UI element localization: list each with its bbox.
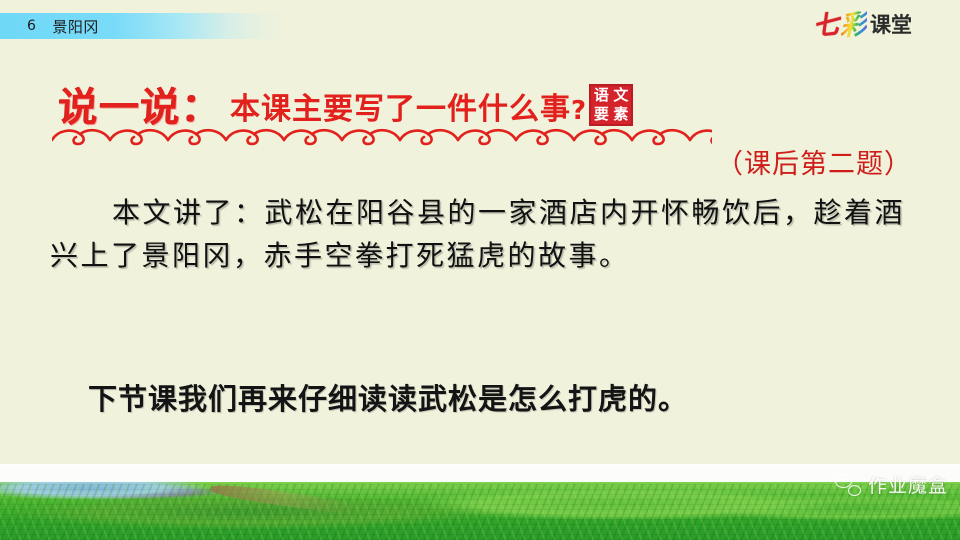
closing-statement: 下节课我们再来仔细读读武松是怎么打虎的。 (88, 382, 688, 417)
yuwen-yaosu-seal: 语 文 要 素 (589, 84, 633, 126)
brand-logo: 七 彩 课堂 (813, 12, 912, 39)
seal-char-4: 素 (612, 106, 631, 124)
summary-paragraph: 本文讲了：武松在阳谷县的一家酒店内开怀畅饮后，趁着酒兴上了景阳冈，赤手空拳打死猛… (50, 192, 910, 277)
watermark-label: 作业魔盒 (868, 471, 948, 498)
landscape-photo-strip (0, 464, 960, 540)
seal-char-2: 文 (612, 87, 631, 105)
wave-underline-decoration (52, 124, 712, 146)
page-title: 景阳冈 (52, 16, 99, 37)
lesson-number: 6 (27, 18, 36, 34)
reference-note: （课后第二题） (716, 150, 912, 180)
heading-prompt: 说一说： (57, 88, 223, 128)
breadcrumb: 6 景阳冈 (0, 13, 285, 39)
heading-question-mark: ? (571, 98, 586, 124)
wechat-icon (835, 474, 861, 496)
seal-char-3: 要 (592, 106, 611, 124)
seal-char-1: 语 (592, 87, 611, 105)
logo-text-ketang: 课堂 (870, 15, 912, 36)
slide-root: 6 景阳冈 七 彩 课堂 说一说： 本课主要写了一件什么事 ? 语 文 要 素 (0, 0, 960, 540)
heading-question: 本课主要写了一件什么事 (230, 95, 571, 125)
logo-char-cai: 彩 (840, 11, 867, 41)
photo-foliage-texture (0, 484, 960, 540)
logo-char-qi: 七 (812, 11, 841, 40)
watermark: 作业魔盒 (835, 471, 948, 498)
heading-row: 说一说： 本课主要写了一件什么事 ? 语 文 要 素 (58, 84, 633, 128)
